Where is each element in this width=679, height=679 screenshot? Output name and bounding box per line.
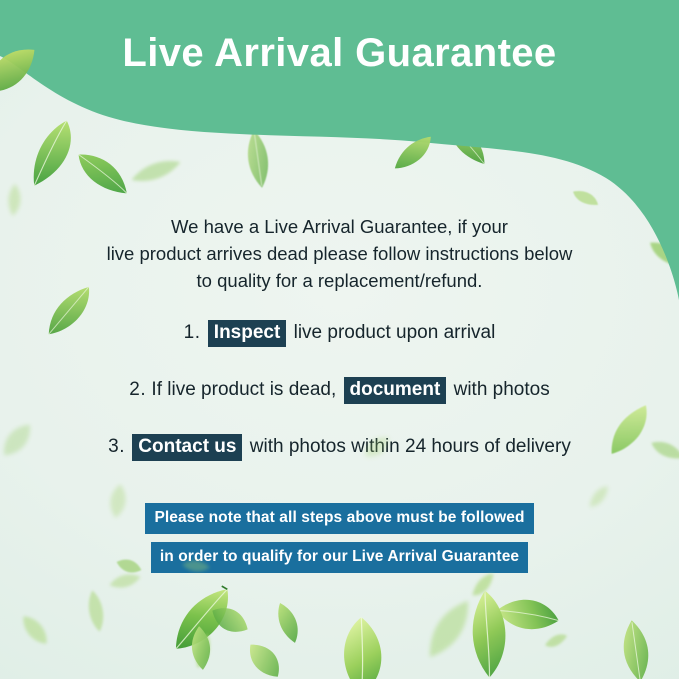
poster-content: We have a Live Arrival Guarantee, if you… — [0, 0, 679, 679]
step-item-2: 2. If live product is dead, document wit… — [0, 377, 679, 404]
notice-line-1: Please note that all steps above must be… — [145, 503, 533, 534]
intro-line-1: We have a Live Arrival Guarantee, if you… — [50, 213, 629, 240]
step-text-after: with photos within 24 hours of delivery — [250, 436, 571, 457]
step-text-after: with photos — [454, 379, 550, 400]
step-text-after: live product upon arrival — [294, 322, 496, 343]
intro-line-2: live product arrives dead please follow … — [50, 240, 629, 267]
live-arrival-guarantee-poster: Live Arrival Guarantee We have a Live Ar… — [0, 0, 679, 679]
steps-list: 1. Inspect live product upon arrival 2. … — [0, 320, 679, 491]
step-number: 2. — [129, 379, 146, 400]
notice-line-2: in order to qualify for our Live Arrival… — [151, 542, 528, 573]
step-highlight-contact-us: Contact us — [132, 434, 242, 461]
step-number: 3. — [108, 436, 125, 457]
step-highlight-document: document — [344, 377, 447, 404]
step-item-1: 1. Inspect live product upon arrival — [0, 320, 679, 347]
step-highlight-inspect: Inspect — [208, 320, 287, 347]
intro-paragraph: We have a Live Arrival Guarantee, if you… — [50, 213, 629, 294]
intro-line-3: to quality for a replacement/refund. — [50, 267, 629, 294]
step-item-3: 3. Contact us with photos within 24 hour… — [0, 434, 679, 461]
step-number: 1. — [184, 322, 201, 343]
step-text-before: If live product is dead, — [151, 379, 336, 400]
notice-block: Please note that all steps above must be… — [0, 503, 679, 581]
